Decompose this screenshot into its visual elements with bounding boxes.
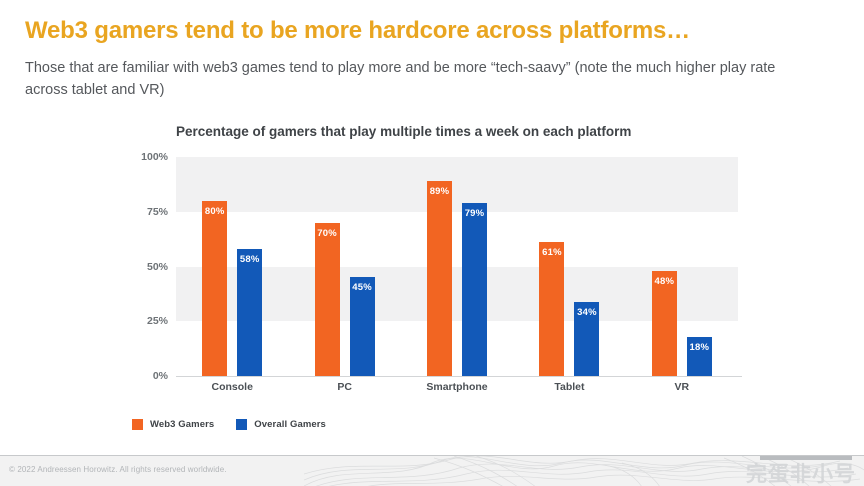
bar-value-label: 58%: [237, 254, 262, 265]
watermark-text: 完蛋非小号: [746, 458, 856, 486]
slide: Web3 gamers tend to be more hardcore acr…: [0, 0, 864, 486]
bars: 70%45%: [288, 157, 400, 376]
legend-swatch-icon: [132, 419, 143, 430]
bar-chart: Percentage of gamers that play multiple …: [0, 115, 864, 445]
legend-label: Web3 Gamers: [150, 419, 214, 430]
y-axis-ticks: 0%25%50%75%100%: [122, 157, 168, 376]
bar-value-label: 61%: [539, 247, 564, 258]
bar-value-label: 34%: [574, 307, 599, 318]
legend-swatch-icon: [236, 419, 247, 430]
bar[interactable]: 80%: [202, 201, 227, 376]
bar[interactable]: 18%: [687, 337, 712, 376]
bar-group: 89%79%: [401, 157, 513, 376]
footer: © 2022 Andreessen Horowitz. All rights r…: [0, 455, 864, 486]
x-axis-label: Smartphone: [401, 381, 513, 393]
bars: 61%34%: [513, 157, 625, 376]
bars: 80%58%: [176, 157, 288, 376]
chart-title: Percentage of gamers that play multiple …: [176, 124, 756, 139]
bar[interactable]: 70%: [315, 223, 340, 376]
x-axis-labels: ConsolePCSmartphoneTabletVR: [176, 381, 738, 393]
bar[interactable]: 45%: [350, 277, 375, 376]
bar-value-label: 48%: [652, 276, 677, 287]
x-axis-line: [176, 376, 742, 377]
bar-group: 48%18%: [626, 157, 738, 376]
x-axis-label: VR: [626, 381, 738, 393]
bar-value-label: 70%: [315, 228, 340, 239]
x-axis-label: PC: [288, 381, 400, 393]
y-axis-tick: 75%: [126, 206, 168, 218]
bar[interactable]: 48%: [652, 271, 677, 376]
legend-item[interactable]: Web3 Gamers: [132, 419, 214, 430]
bar[interactable]: 79%: [462, 203, 487, 376]
y-axis-tick: 50%: [126, 261, 168, 273]
x-axis-label: Tablet: [513, 381, 625, 393]
y-axis-tick: 25%: [126, 315, 168, 327]
bar-value-label: 89%: [427, 186, 452, 197]
bar[interactable]: 58%: [237, 249, 262, 376]
bar-group: 61%34%: [513, 157, 625, 376]
bar-value-label: 79%: [462, 208, 487, 219]
x-axis-label: Console: [176, 381, 288, 393]
bars: 48%18%: [626, 157, 738, 376]
bar-group: 70%45%: [288, 157, 400, 376]
y-axis-tick: 100%: [126, 151, 168, 163]
legend-label: Overall Gamers: [254, 419, 326, 430]
bar-group: 80%58%: [176, 157, 288, 376]
bar[interactable]: 34%: [574, 302, 599, 376]
bar[interactable]: 61%: [539, 242, 564, 376]
y-axis-tick: 0%: [126, 370, 168, 382]
bar-value-label: 18%: [687, 342, 712, 353]
bar[interactable]: 89%: [427, 181, 452, 376]
bar-value-label: 80%: [202, 206, 227, 217]
bars: 89%79%: [401, 157, 513, 376]
page-title: Web3 gamers tend to be more hardcore acr…: [25, 17, 690, 45]
page-subtitle: Those that are familiar with web3 games …: [25, 57, 815, 101]
bar-groups: 80%58%70%45%89%79%61%34%48%18%: [176, 157, 738, 376]
bar-value-label: 45%: [350, 282, 375, 293]
legend-item[interactable]: Overall Gamers: [236, 419, 326, 430]
copyright-text: © 2022 Andreessen Horowitz. All rights r…: [9, 465, 227, 474]
chart-legend: Web3 GamersOverall Gamers: [132, 419, 326, 430]
